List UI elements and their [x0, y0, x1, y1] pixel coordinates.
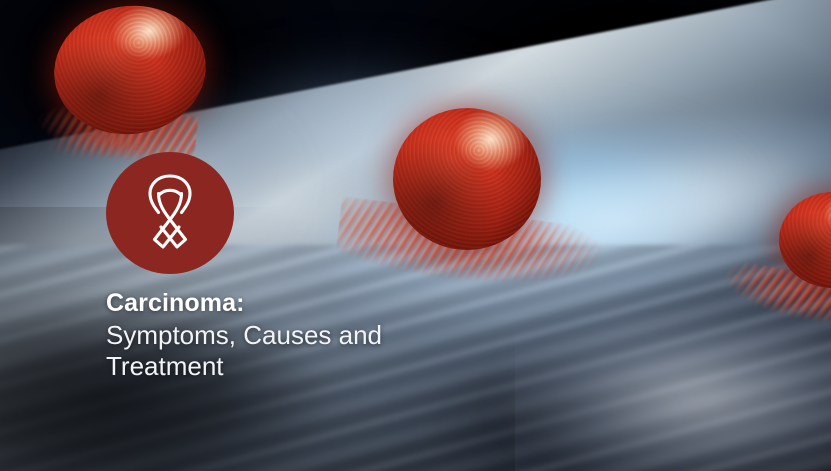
awareness-ribbon-badge	[106, 152, 234, 274]
awareness-ribbon-icon	[139, 171, 201, 255]
page-subtitle: Symptoms, Causes and Treatment	[106, 320, 526, 382]
title-block: Carcinoma: Symptoms, Causes and Treatmen…	[106, 290, 526, 382]
page-subtitle-line-2: Treatment	[106, 351, 526, 382]
cell-shade	[779, 192, 831, 288]
page-title: Carcinoma:	[106, 290, 526, 316]
cancer-cell-center	[393, 108, 541, 250]
promo-banner: Carcinoma: Symptoms, Causes and Treatmen…	[0, 0, 831, 471]
cell-shade	[46, 0, 214, 144]
cancer-cell-right	[779, 192, 831, 288]
cell-shade	[393, 108, 541, 250]
cancer-cell-left	[46, 0, 214, 144]
page-subtitle-line-1: Symptoms, Causes and	[106, 320, 526, 351]
